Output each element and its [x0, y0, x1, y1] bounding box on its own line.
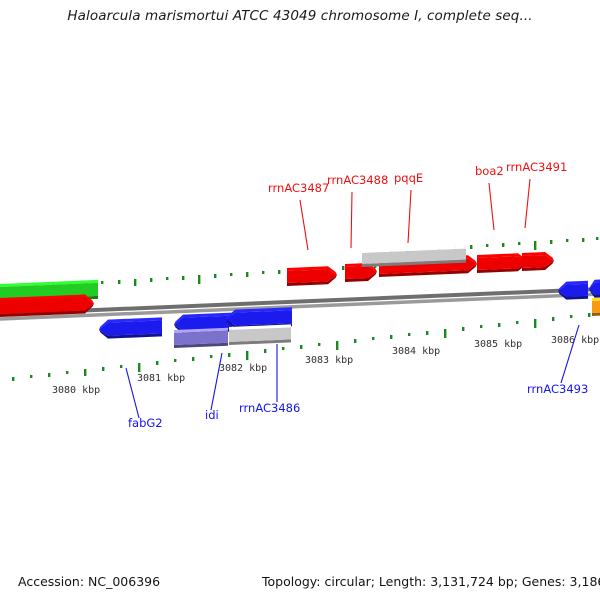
gene-red-left[interactable] — [0, 294, 94, 317]
sequence-tick-mark — [498, 323, 500, 327]
genome-viewer: Haloarcula marismortui ATCC 43049 chromo… — [0, 0, 600, 600]
ruler-tick-label: 3080 kbp — [52, 385, 100, 396]
gene-label-forward-leader-line — [525, 179, 530, 228]
gene-label-forward[interactable]: rrnAC3491 — [506, 160, 567, 174]
sequence-tick-mark — [66, 371, 68, 374]
sequence-tick-mark — [246, 351, 248, 360]
coordinate-ruler: 3080 kbp3081 kbp3082 kbp3083 kbp3084 kbp… — [52, 335, 599, 396]
genome-map-canvas[interactable]: 3080 kbp3081 kbp3082 kbp3083 kbp3084 kbp… — [0, 0, 600, 600]
sequence-tick-mark — [182, 276, 184, 280]
sequence-tick-mark — [192, 357, 194, 361]
sequence-tick-mark — [426, 331, 428, 335]
sequence-tick-mark — [518, 242, 520, 245]
sequence-tick-mark — [134, 279, 136, 286]
gene-label-reverse[interactable]: fabG2 — [128, 416, 163, 430]
sequence-tick-mark — [118, 280, 120, 284]
accession-label: Accession: NC_006396 — [18, 574, 160, 589]
sequence-tick-mark — [262, 271, 264, 274]
sequence-tick-mark — [534, 241, 536, 250]
sequence-tick-mark — [372, 337, 374, 340]
sequence-tick-mark — [408, 333, 410, 336]
sequence-tick-mark — [342, 266, 344, 270]
gene-label-forward[interactable]: boa2 — [475, 164, 504, 178]
sequence-tick-mark — [210, 355, 212, 358]
gene-label-forward[interactable]: rrnAC3487 — [268, 181, 329, 195]
gene-fabG2[interactable] — [99, 317, 162, 338]
gene-purple[interactable] — [174, 328, 228, 348]
gene-label-forward-leader-line — [351, 192, 352, 248]
sequence-tick-mark — [48, 373, 50, 377]
gene-label-reverse[interactable]: rrnAC3493 — [527, 382, 588, 396]
ruler-tick-label: 3082 kbp — [219, 363, 267, 374]
gene-label-reverse[interactable]: idi — [205, 408, 219, 422]
gene-body[interactable] — [174, 331, 228, 345]
sequence-tick-mark — [246, 272, 248, 277]
sequence-tick-mark — [462, 327, 464, 331]
sequence-tick-mark — [30, 375, 32, 378]
sequence-tick-mark — [198, 275, 200, 284]
sequence-tick-mark — [282, 347, 284, 350]
sequence-tick-mark — [552, 317, 554, 321]
sequence-tick-mark — [566, 239, 568, 242]
sequence-tick-mark — [480, 325, 482, 328]
ruler-tick-label: 3085 kbp — [474, 339, 522, 350]
gene-grey-bottom[interactable] — [229, 324, 291, 345]
sequence-tick-mark — [486, 244, 488, 247]
gene-label-reverse-leader-line — [211, 353, 222, 410]
sequence-tick-mark — [84, 369, 86, 376]
gene-label-reverse-leader-line — [561, 325, 579, 383]
ruler-tick-label: 3084 kbp — [392, 346, 440, 357]
sequence-tick-mark — [214, 274, 216, 278]
gene-rrnAC3487[interactable] — [287, 266, 337, 286]
sequence-tick-mark — [300, 345, 302, 349]
sequence-tick-mark — [228, 353, 230, 357]
sequence-tick-mark — [390, 335, 392, 339]
sequence-tick-mark — [596, 237, 598, 240]
gene-label-forward-leader-line — [408, 190, 411, 243]
sequence-tick-mark — [230, 273, 232, 276]
sequence-tick-mark — [120, 365, 122, 368]
sequence-tick-mark — [470, 245, 472, 249]
sequence-tick-mark — [138, 363, 140, 372]
sequence-tick-mark — [354, 339, 356, 343]
sequence-tick-mark — [264, 349, 266, 353]
sequence-tick-mark — [516, 321, 518, 324]
sequence-tick-mark — [150, 278, 152, 282]
genome-summary-label: Topology: circular; Length: 3,131,724 bp… — [262, 574, 600, 589]
sequence-tick-mark — [550, 240, 552, 244]
sequence-tick-mark — [278, 270, 280, 274]
sequence-tick-mark — [101, 281, 103, 284]
sequence-tick-mark — [336, 341, 338, 350]
ruler-tick-label: 3083 kbp — [305, 355, 353, 366]
sequence-tick-mark — [582, 238, 584, 242]
gene-orange-edge[interactable] — [592, 297, 600, 316]
sequence-tick-mark — [444, 329, 446, 338]
gene-label-forward-leader-line — [300, 200, 308, 250]
gene-label-forward-leader-line — [489, 183, 494, 230]
sequence-tick-mark — [318, 343, 320, 346]
ruler-tick-label: 3081 kbp — [137, 373, 185, 384]
gene-label-forward[interactable]: rrnAC3488 — [327, 173, 388, 187]
sequence-tick-mark — [534, 319, 536, 328]
sequence-tick-mark — [156, 361, 158, 365]
status-bar: Accession: NC_006396 Topology: circular;… — [0, 566, 600, 600]
gene-label-forward-group: rrnAC3487rrnAC3488pqqEboa2rrnAC3491 — [268, 160, 567, 250]
gene-label-reverse[interactable]: rrnAC3486 — [239, 401, 300, 415]
sequence-tick-mark — [102, 367, 104, 371]
gene-boa2[interactable] — [477, 253, 527, 273]
gene-face-bottom — [592, 312, 600, 316]
sequence-tick-mark — [12, 377, 14, 381]
gene-rrnAC3491[interactable] — [522, 252, 554, 271]
sequence-tick-mark — [166, 277, 168, 280]
gene-label-forward[interactable]: pqqE — [394, 171, 423, 185]
sequence-tick-mark — [174, 359, 176, 362]
gene-face-top — [592, 297, 600, 301]
gene-body[interactable] — [592, 300, 600, 313]
sequence-tick-mark — [502, 243, 504, 247]
gene-body[interactable] — [99, 320, 162, 335]
sequence-tick-mark — [588, 313, 590, 317]
sequence-tick-mark — [570, 315, 572, 318]
